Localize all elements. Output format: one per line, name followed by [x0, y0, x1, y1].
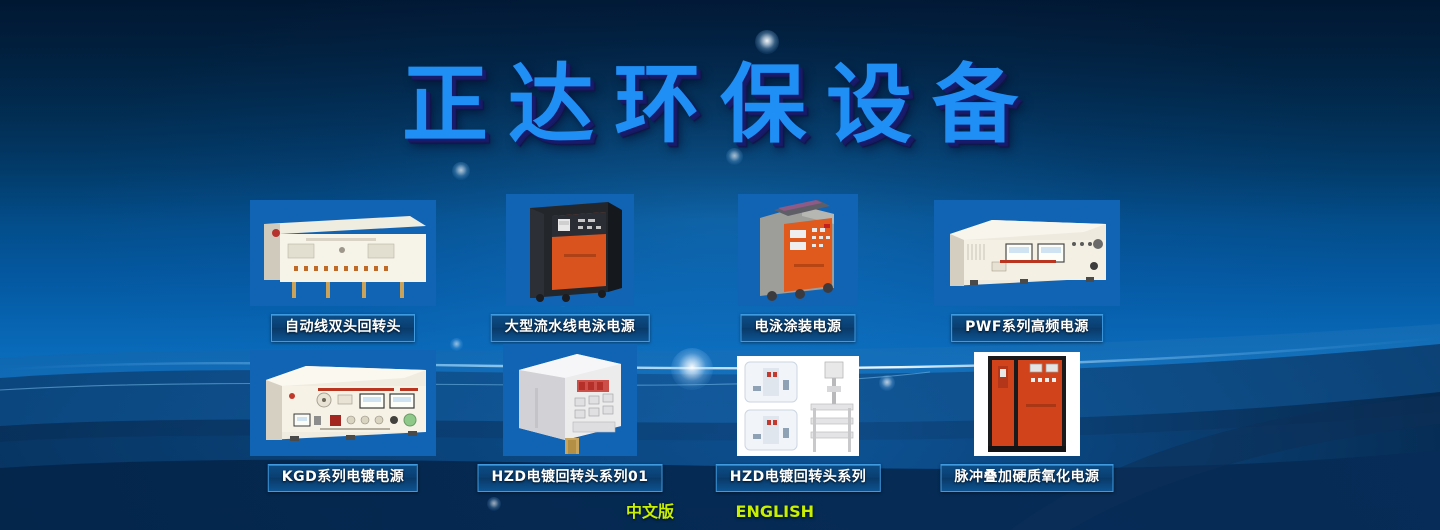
- product-label[interactable]: 电泳涂装电源: [741, 314, 856, 342]
- product-label[interactable]: KGD系列电镀电源: [268, 464, 418, 492]
- product-label[interactable]: 大型流水线电泳电源: [491, 314, 650, 342]
- gray-orange-cart-icon: [738, 194, 858, 306]
- product-label[interactable]: HZD电镀回转头系列01: [478, 464, 663, 492]
- product-image-beige-cabinet-wide: [228, 194, 458, 306]
- product-label[interactable]: 自动线双头回转头: [271, 314, 415, 342]
- bokeh-orb: [452, 162, 470, 180]
- product-card[interactable]: 大型流水线电泳电源: [455, 192, 685, 342]
- black-orange-cabinet-icon: [506, 194, 634, 306]
- language-switcher: 中文版 ENGLISH: [0, 498, 1440, 522]
- language-link-chinese[interactable]: 中文版: [626, 502, 674, 521]
- product-image-beige-benchtop-meters: [912, 194, 1142, 306]
- product-label[interactable]: PWF系列高频电源: [951, 314, 1103, 342]
- beige-benchtop-meters-icon: [934, 200, 1120, 306]
- product-card[interactable]: 脉冲叠加硬质氧化电源: [912, 342, 1142, 492]
- cream-benchtop-panel-icon: [250, 350, 436, 456]
- language-link-english[interactable]: ENGLISH: [736, 502, 815, 521]
- product-card[interactable]: HZD电镀回转头系列01: [455, 342, 685, 492]
- product-image-orange-tall-cabinet: [912, 344, 1142, 456]
- product-image-white-angled-head: [455, 344, 685, 456]
- page-title: 正达环保设备: [0, 62, 1440, 148]
- product-card[interactable]: PWF系列高频电源: [912, 192, 1142, 342]
- beige-cabinet-wide-icon: [250, 200, 436, 306]
- homepage-banner: 正达环保设备: [0, 0, 1440, 530]
- product-label[interactable]: 脉冲叠加硬质氧化电源: [941, 464, 1114, 492]
- product-image-cream-benchtop-panel: [228, 344, 458, 456]
- white-collage-stand-icon: [737, 356, 859, 456]
- product-image-gray-orange-cart: [683, 194, 913, 306]
- product-card[interactable]: 电泳涂装电源: [683, 192, 913, 342]
- white-angled-head-icon: [503, 344, 637, 456]
- product-card[interactable]: 自动线双头回转头: [228, 192, 458, 342]
- product-image-black-orange-cabinet: [455, 194, 685, 306]
- product-card[interactable]: HZD电镀回转头系列: [683, 342, 913, 492]
- product-label[interactable]: HZD电镀回转头系列: [716, 464, 881, 492]
- bokeh-orb: [755, 30, 779, 54]
- product-row-bottom: KGD系列电镀电源: [0, 342, 1440, 492]
- product-image-white-collage-stand: [683, 344, 913, 456]
- product-card[interactable]: KGD系列电镀电源: [228, 342, 458, 492]
- orange-tall-cabinet-icon: [974, 352, 1080, 456]
- product-row-top: 自动线双头回转头: [0, 192, 1440, 342]
